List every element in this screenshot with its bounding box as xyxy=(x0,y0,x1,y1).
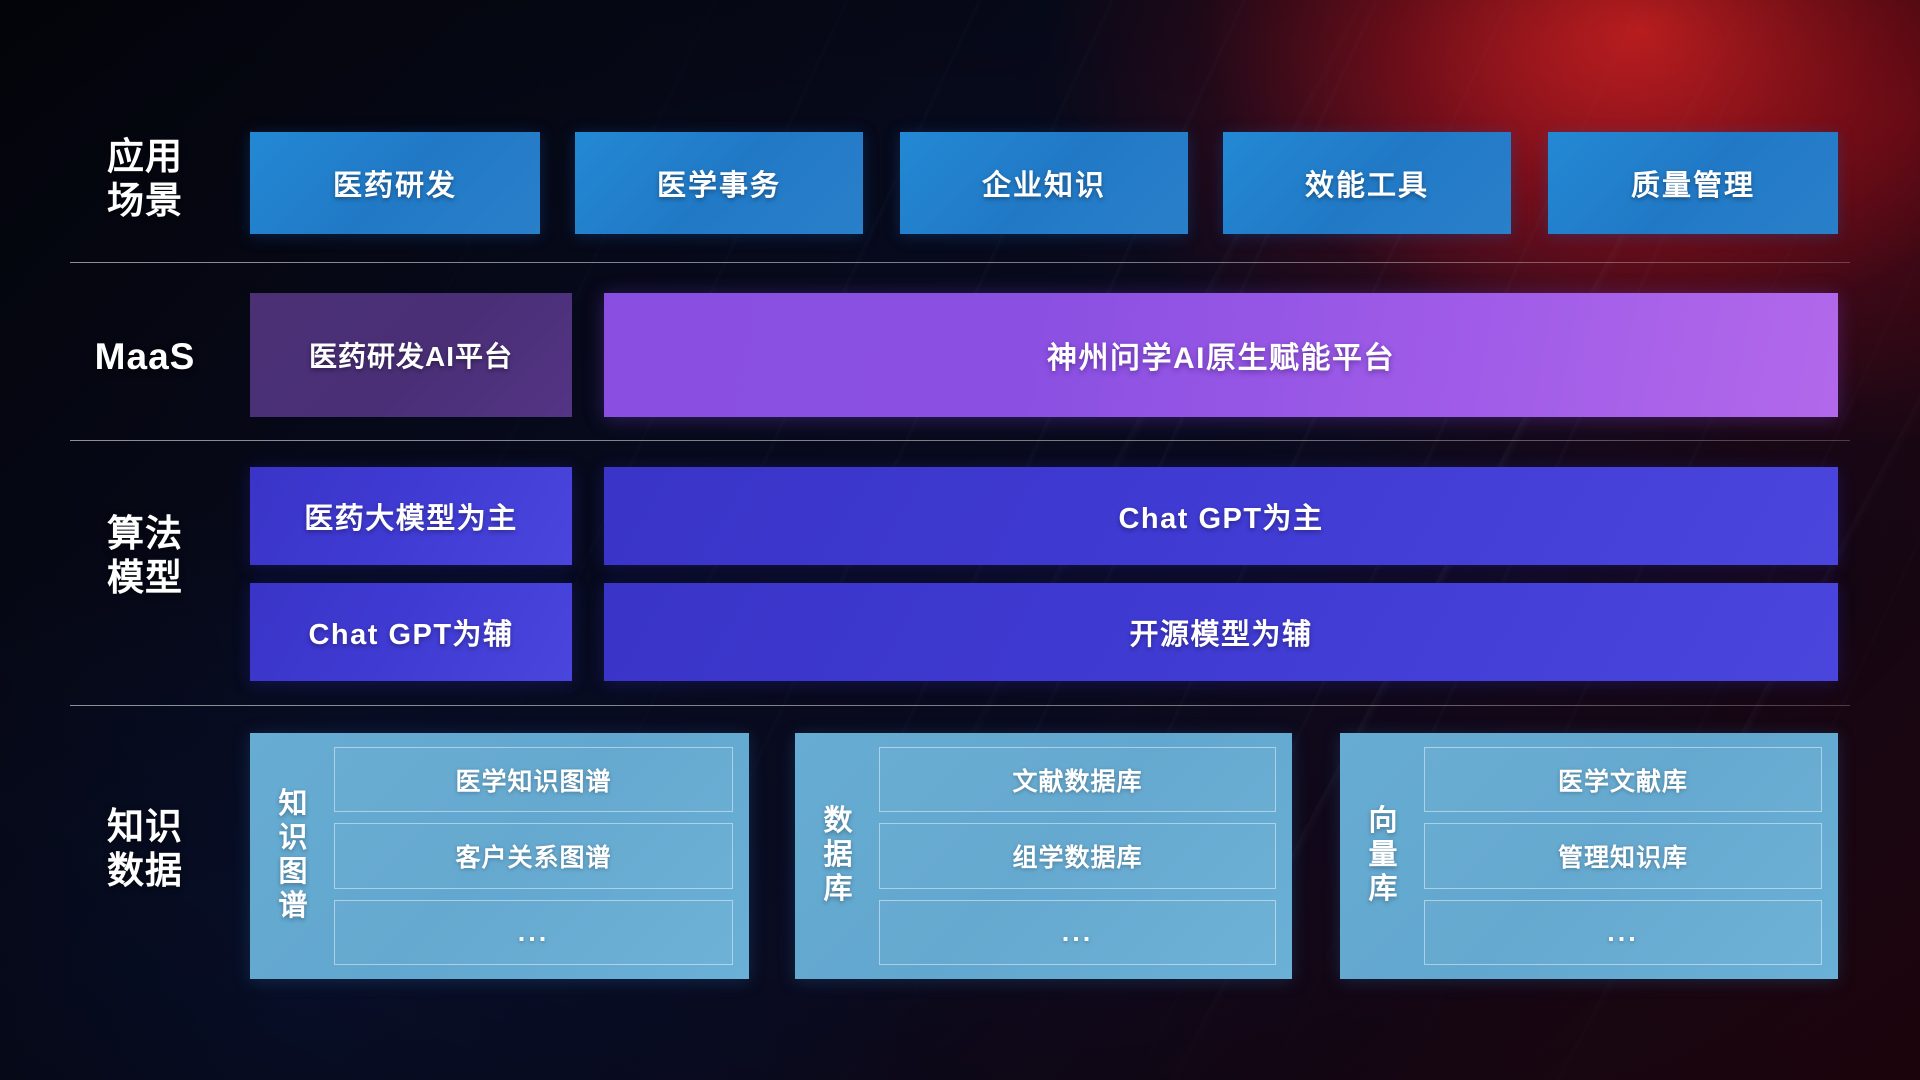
row-label-knowledge-data: 知识 数据 xyxy=(70,805,220,892)
maas-enablement-banner[interactable]: 神州问学AI原生赋能平台 xyxy=(604,293,1838,417)
knowledge-group-label-char: 据 xyxy=(823,839,852,873)
knowledge-group-label-char: 量 xyxy=(1368,839,1397,873)
knowledge-item-chip-more[interactable]: ... xyxy=(1424,900,1822,965)
knowledge-group-label: 数 据 库 xyxy=(807,747,869,965)
diagram-canvas: 应用 场景 医药研发 医学事务 企业知识 效能工具 质量管理 MaaS 医药研发… xyxy=(0,0,1920,1080)
knowledge-group-label: 向 量 库 xyxy=(1352,747,1414,965)
row-label-line: 数据 xyxy=(70,849,220,893)
row-label-line: 应用 xyxy=(70,135,220,179)
algo-box-right-secondary[interactable]: 开源模型为辅 xyxy=(604,583,1838,681)
divider-after-maas xyxy=(70,440,1850,441)
knowledge-group-label-char: 向 xyxy=(1368,805,1397,839)
maas-platform-label: 医药研发AI平台 xyxy=(309,335,513,375)
knowledge-item-chip[interactable]: 客户关系图谱 xyxy=(334,823,733,888)
knowledge-group-database[interactable]: 数 据 库 文献数据库 组学数据库 ... xyxy=(795,733,1292,979)
algo-box-left-primary[interactable]: 医药大模型为主 xyxy=(250,467,572,565)
knowledge-group-label-char: 库 xyxy=(1368,873,1397,907)
row-label-application-scenarios: 应用 场景 xyxy=(70,135,220,222)
app-scenario-box-1[interactable]: 医药研发 xyxy=(250,132,540,234)
knowledge-item-chip[interactable]: 管理知识库 xyxy=(1424,823,1822,888)
knowledge-item-chip[interactable]: 医学知识图谱 xyxy=(334,747,733,812)
app-scenario-label: 医药研发 xyxy=(333,162,457,204)
knowledge-group-label: 知 识 图 谱 xyxy=(262,747,324,965)
app-scenario-box-4[interactable]: 效能工具 xyxy=(1223,132,1511,234)
row-label-line: 算法 xyxy=(70,512,220,556)
knowledge-item-chip-more[interactable]: ... xyxy=(879,900,1276,965)
algo-box-left-secondary[interactable]: Chat GPT为辅 xyxy=(250,583,572,681)
row-label-maas: MaaS xyxy=(70,335,220,379)
knowledge-group-label-char: 谱 xyxy=(278,890,307,924)
diagram-content: 应用 场景 医药研发 医学事务 企业知识 效能工具 质量管理 MaaS 医药研发… xyxy=(0,0,1920,1080)
app-scenario-label: 医学事务 xyxy=(657,162,781,204)
knowledge-group-items: 医学文献库 管理知识库 ... xyxy=(1414,747,1822,965)
knowledge-group-items: 医学知识图谱 客户关系图谱 ... xyxy=(324,747,733,965)
algo-label: Chat GPT为主 xyxy=(1118,495,1323,537)
app-scenario-box-3[interactable]: 企业知识 xyxy=(900,132,1188,234)
knowledge-group-label-char: 数 xyxy=(823,805,852,839)
knowledge-group-items: 文献数据库 组学数据库 ... xyxy=(869,747,1276,965)
knowledge-item-chip[interactable]: 文献数据库 xyxy=(879,747,1276,812)
knowledge-group-label-char: 库 xyxy=(823,873,852,907)
app-scenario-box-5[interactable]: 质量管理 xyxy=(1548,132,1838,234)
algo-label: Chat GPT为辅 xyxy=(308,611,513,653)
row-label-algorithm-models: 算法 模型 xyxy=(70,512,220,599)
app-scenario-box-2[interactable]: 医学事务 xyxy=(575,132,863,234)
knowledge-group-knowledge-graph[interactable]: 知 识 图 谱 医学知识图谱 客户关系图谱 ... xyxy=(250,733,749,979)
knowledge-item-chip[interactable]: 组学数据库 xyxy=(879,823,1276,888)
row-label-line: 场景 xyxy=(70,179,220,223)
knowledge-item-chip[interactable]: 医学文献库 xyxy=(1424,747,1822,812)
algo-box-right-primary[interactable]: Chat GPT为主 xyxy=(604,467,1838,565)
knowledge-group-vector-store[interactable]: 向 量 库 医学文献库 管理知识库 ... xyxy=(1340,733,1838,979)
algo-label: 医药大模型为主 xyxy=(304,495,518,537)
app-scenario-label: 效能工具 xyxy=(1305,162,1429,204)
app-scenario-label: 企业知识 xyxy=(982,162,1106,204)
divider-after-application-scenarios xyxy=(70,262,1850,263)
algo-label: 开源模型为辅 xyxy=(1129,611,1312,653)
knowledge-group-label-char: 知 xyxy=(278,788,307,822)
knowledge-item-chip-more[interactable]: ... xyxy=(334,900,733,965)
row-label-line: 模型 xyxy=(70,556,220,600)
app-scenario-label: 质量管理 xyxy=(1631,162,1755,204)
maas-platform-box[interactable]: 医药研发AI平台 xyxy=(250,293,572,417)
maas-enablement-label: 神州问学AI原生赋能平台 xyxy=(1047,333,1395,377)
knowledge-group-label-char: 图 xyxy=(278,856,307,890)
row-label-line: 知识 xyxy=(70,805,220,849)
divider-after-algorithm-models xyxy=(70,705,1850,706)
knowledge-group-label-char: 识 xyxy=(278,822,307,856)
row-label-line: MaaS xyxy=(70,335,220,379)
